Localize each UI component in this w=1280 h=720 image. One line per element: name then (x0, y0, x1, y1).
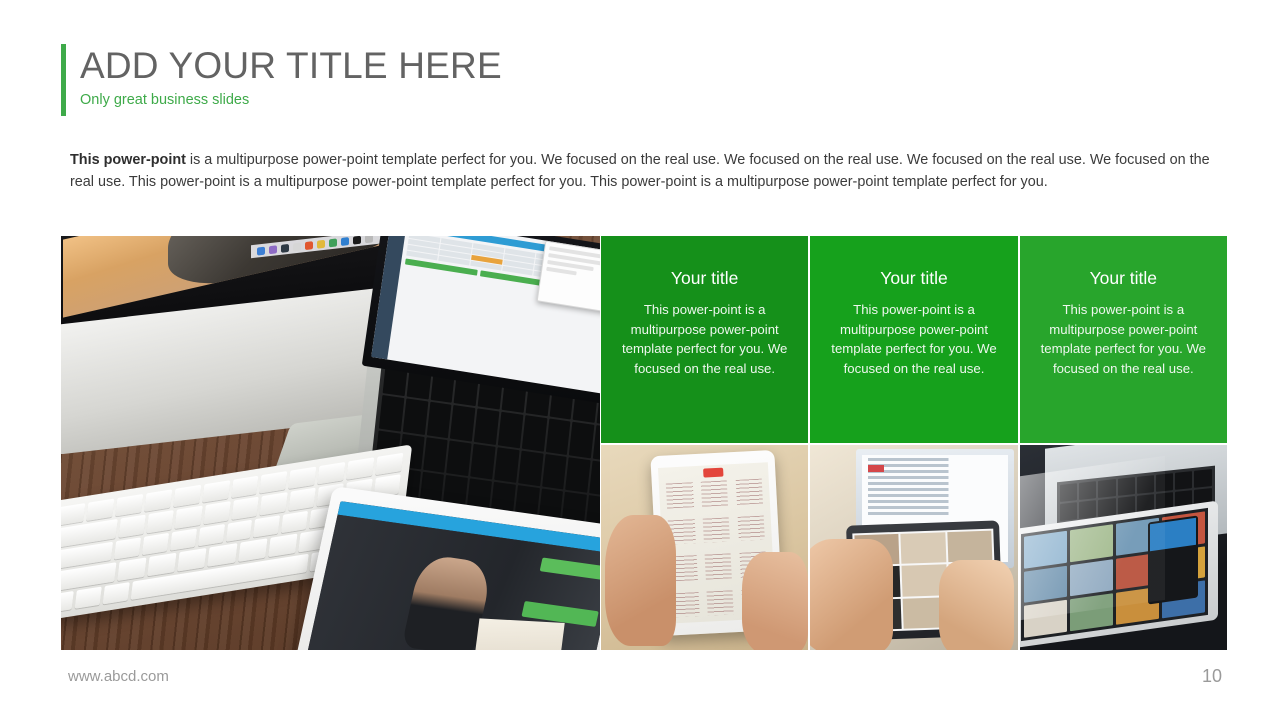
thumbnail-photos-row (601, 445, 1227, 650)
body-paragraph-text: is a multipurpose power-point template p… (70, 152, 1210, 190)
right-hand (742, 552, 808, 650)
compose-button (868, 465, 884, 472)
body-paragraph: This power-point is a multipurpose power… (70, 150, 1210, 193)
slide-header: ADD YOUR TITLE HERE Only great business … (61, 44, 761, 116)
thumbnail-photo-2 (810, 445, 1017, 650)
feature-card-2-title: Your title (824, 266, 1003, 290)
page-title: ADD YOUR TITLE HERE (80, 44, 502, 88)
paper-overlay (473, 618, 565, 650)
feature-card-3-text: This power-point is a multipurpose power… (1034, 300, 1213, 378)
feature-card-2[interactable]: Your title This power-point is a multipu… (810, 236, 1017, 443)
left-hand (810, 539, 893, 650)
right-hand (939, 560, 1014, 650)
page-number: 10 (1202, 666, 1222, 687)
page-subtitle: Only great business slides (80, 90, 502, 111)
content-area:  (61, 236, 1227, 650)
thumbnail-photo-3 (1020, 445, 1227, 650)
feature-card-1-text: This power-point is a multipurpose power… (615, 300, 794, 378)
feature-card-3[interactable]: Your title This power-point is a multipu… (1020, 236, 1227, 443)
feature-card-1-title: Your title (615, 266, 794, 290)
phone-device (1148, 515, 1198, 604)
feature-card-2-text: This power-point is a multipurpose power… (824, 300, 1003, 378)
main-photo:  (61, 236, 600, 650)
phone-app-header (1150, 518, 1196, 551)
footer-url[interactable]: www.abcd.com (68, 668, 169, 685)
left-hand (605, 515, 675, 646)
feature-card-1[interactable]: Your title This power-point is a multipu… (601, 236, 808, 443)
feature-cards-row: Your title This power-point is a multipu… (601, 236, 1227, 443)
body-paragraph-lead: This power-point (70, 152, 186, 168)
feature-card-3-title: Your title (1034, 266, 1213, 290)
ipad-website (301, 501, 600, 650)
title-block: ADD YOUR TITLE HERE Only great business … (80, 44, 502, 116)
thumbnail-photo-1 (601, 445, 808, 650)
title-accent-bar (61, 44, 66, 116)
